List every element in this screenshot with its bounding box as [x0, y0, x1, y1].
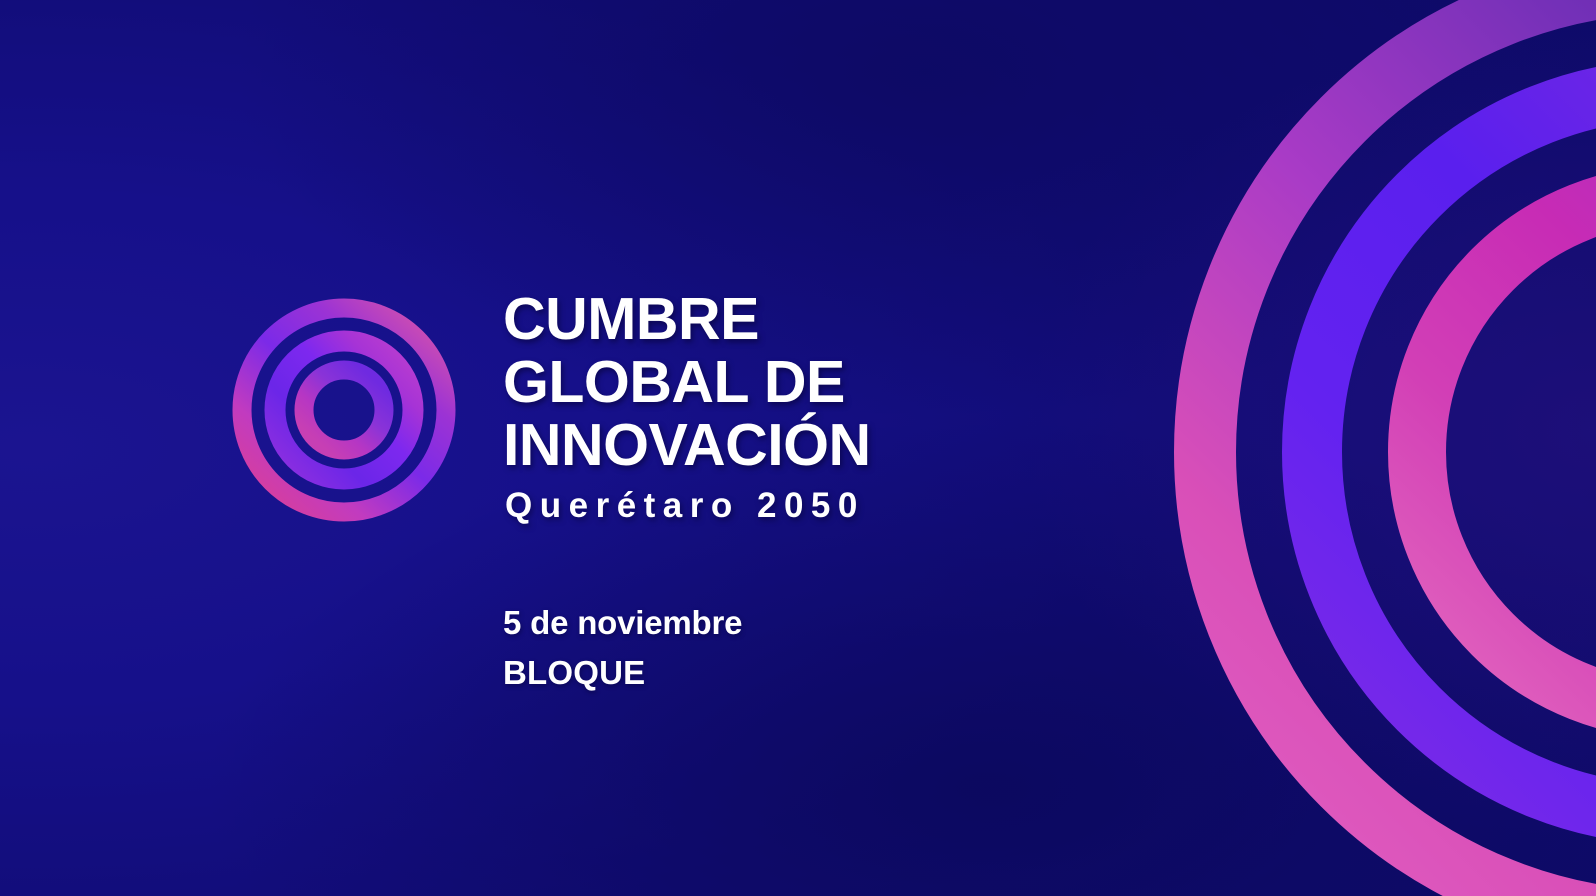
logo-ring-inner — [304, 370, 384, 450]
event-details: 5 de noviembre BLOQUE — [503, 598, 1143, 698]
event-subtitle: Querétaro 2050 — [505, 486, 1203, 526]
title-line-3: INNOVACIÓN — [503, 414, 1203, 477]
event-block: BLOQUE — [503, 648, 1143, 698]
event-date: 5 de noviembre — [503, 598, 1143, 648]
event-title: CUMBRE GLOBAL DE INNOVACIÓN — [503, 288, 1203, 477]
concentric-rings-logo — [232, 298, 456, 522]
event-banner: CUMBRE GLOBAL DE INNOVACIÓN Querétaro 20… — [0, 0, 1596, 896]
headline-block: CUMBRE GLOBAL DE INNOVACIÓN Querétaro 20… — [503, 288, 1203, 526]
title-line-1: CUMBRE — [503, 288, 1203, 351]
title-line-2: GLOBAL DE — [503, 351, 1203, 414]
